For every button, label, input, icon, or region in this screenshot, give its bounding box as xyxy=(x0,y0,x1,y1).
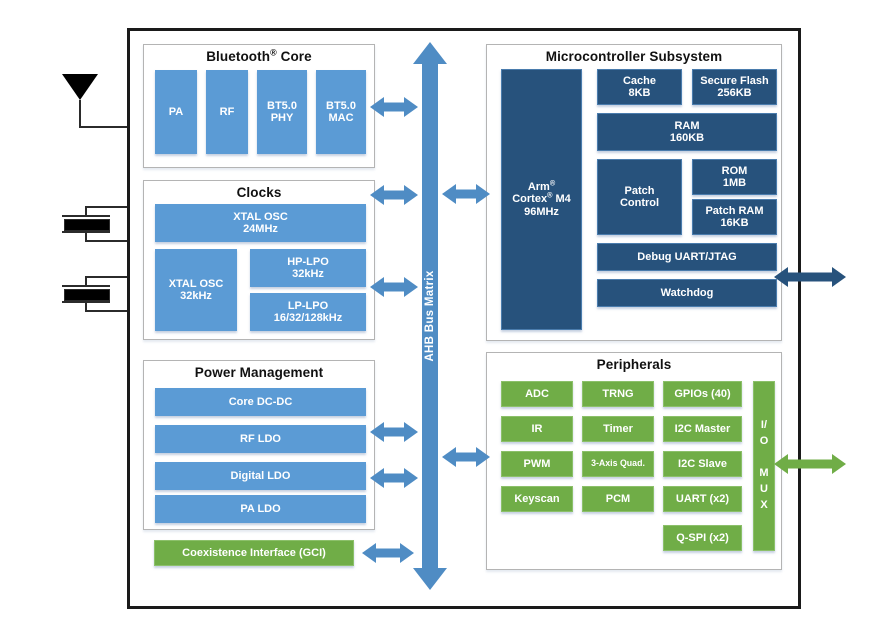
block-rom[interactable]: ROM1MB xyxy=(692,159,777,195)
crystal-body xyxy=(64,219,110,231)
clocks-group: Clocks XTAL OSC24MHz XTAL OSC32kHz HP-LP… xyxy=(143,180,375,340)
block-bt50-phy[interactable]: BT5.0PHY xyxy=(257,70,307,154)
arrow-io-mux-external xyxy=(774,451,846,477)
arrow-power-management-to-bus xyxy=(370,418,418,446)
block-uart-x2[interactable]: UART (x2) xyxy=(663,486,742,512)
antenna-triangle-icon xyxy=(62,74,98,100)
peripherals-title: Peripherals xyxy=(487,357,781,372)
block-secure-flash[interactable]: Secure Flash256KB xyxy=(692,69,777,105)
block-bt50-mac[interactable]: BT5.0MAC xyxy=(316,70,366,154)
block-rf-ldo[interactable]: RF LDO xyxy=(155,425,366,453)
block-trng[interactable]: TRNG xyxy=(582,381,654,407)
block-keyscan[interactable]: Keyscan xyxy=(501,486,573,512)
arrow-bluetooth-core-to-bus xyxy=(370,93,418,121)
block-rf[interactable]: RF xyxy=(206,70,248,154)
block-diagram-canvas: Bluetooth® Core PA RF BT5.0PHY BT5.0MAC … xyxy=(0,0,885,640)
block-debug-uart-jtag[interactable]: Debug UART/JTAG xyxy=(597,243,777,271)
block-core-dc-dc[interactable]: Core DC-DC xyxy=(155,388,366,416)
block-ir[interactable]: IR xyxy=(501,416,573,442)
crystal-body xyxy=(64,289,110,301)
block-adc[interactable]: ADC xyxy=(501,381,573,407)
ahb-bus-matrix-label: AHB Bus Matrix xyxy=(424,270,436,361)
block-pcm[interactable]: PCM xyxy=(582,486,654,512)
block-xtal-osc-32khz[interactable]: XTAL OSC32kHz xyxy=(155,249,237,331)
block-gpios[interactable]: GPIOs (40) xyxy=(663,381,742,407)
block-patch-ram[interactable]: Patch RAM16KB xyxy=(692,199,777,235)
arrow-clocks-lower-to-bus xyxy=(370,273,418,301)
arrow-coexistence-to-bus xyxy=(362,539,414,567)
block-cache[interactable]: Cache8KB xyxy=(597,69,682,105)
block-i2c-master[interactable]: I2C Master xyxy=(663,416,742,442)
block-coexistence-interface[interactable]: Coexistence Interface (GCI) xyxy=(154,540,354,566)
antenna-vertical-wire xyxy=(79,100,81,128)
power-management-group: Power Management Core DC-DC RF LDO Digit… xyxy=(143,360,375,530)
block-digital-ldo[interactable]: Digital LDO xyxy=(155,462,366,490)
bluetooth-core-group: Bluetooth® Core PA RF BT5.0PHY BT5.0MAC xyxy=(143,44,375,168)
block-pwm[interactable]: PWM xyxy=(501,451,573,477)
block-i2c-slave[interactable]: I2C Slave xyxy=(663,451,742,477)
power-management-title: Power Management xyxy=(144,365,374,380)
block-watchdog[interactable]: Watchdog xyxy=(597,279,777,307)
block-3-axis-quad[interactable]: 3-Axis Quad. xyxy=(582,451,654,477)
block-timer[interactable]: Timer xyxy=(582,416,654,442)
block-io-mux[interactable]: I/O MUX xyxy=(753,381,775,551)
block-pa-ldo[interactable]: PA LDO xyxy=(155,495,366,523)
block-lp-lpo[interactable]: LP-LPO16/32/128kHz xyxy=(250,293,366,331)
microcontroller-subsystem-title: Microcontroller Subsystem xyxy=(487,49,781,64)
microcontroller-subsystem-group: Microcontroller Subsystem Arm®Cortex® M4… xyxy=(486,44,782,341)
ahb-bus-matrix[interactable]: AHB Bus Matrix xyxy=(413,42,447,590)
block-q-spi-x2[interactable]: Q-SPI (x2) xyxy=(663,525,742,551)
block-pa[interactable]: PA xyxy=(155,70,197,154)
peripherals-group: Peripherals ADC IR PWM Keyscan TRNG Time… xyxy=(486,352,782,570)
arrow-bus-to-microcontroller-subsystem xyxy=(442,180,490,208)
block-patch-control[interactable]: PatchControl xyxy=(597,159,682,235)
block-hp-lpo[interactable]: HP-LPO32kHz xyxy=(250,249,366,287)
arrow-power-management-lower-to-bus xyxy=(370,464,418,492)
block-xtal-osc-24mhz[interactable]: XTAL OSC24MHz xyxy=(155,204,366,242)
clocks-title: Clocks xyxy=(144,185,374,200)
arrow-debug-uart-jtag-external xyxy=(774,264,846,290)
arrow-bus-to-peripherals xyxy=(442,443,490,471)
arrow-clocks-to-bus xyxy=(370,181,418,209)
block-arm-cortex-m4[interactable]: Arm®Cortex® M496MHz xyxy=(501,69,582,330)
block-ram[interactable]: RAM160KB xyxy=(597,113,777,151)
bluetooth-core-title: Bluetooth® Core xyxy=(144,49,374,64)
